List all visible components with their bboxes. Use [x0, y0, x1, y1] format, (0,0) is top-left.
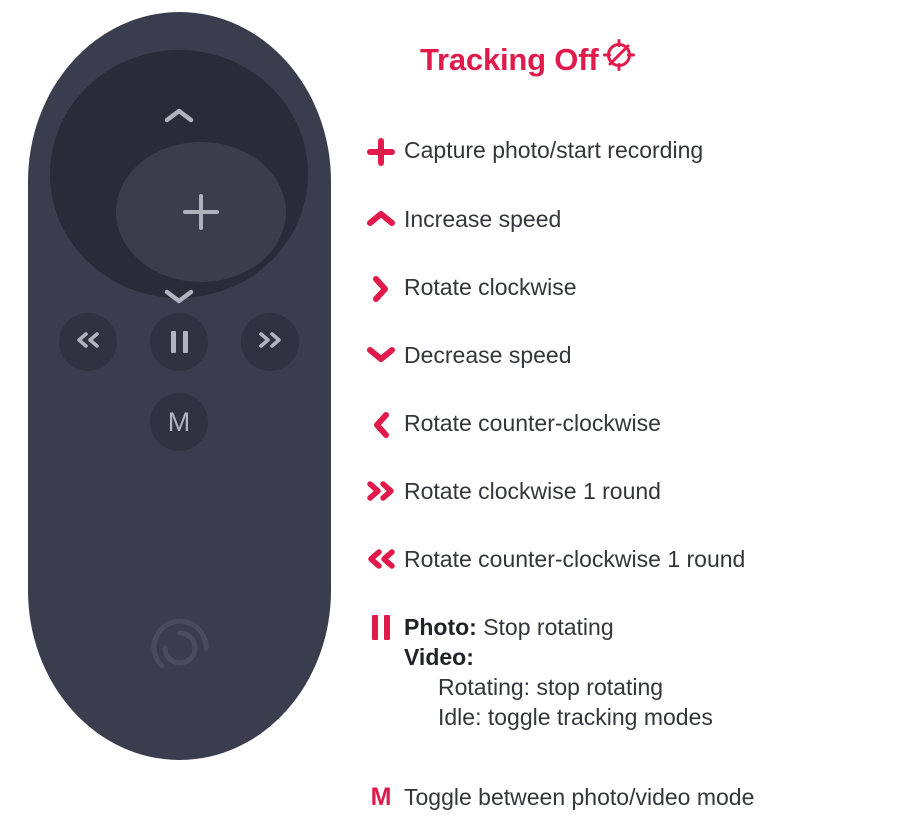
double-chevron-left-icon: [73, 330, 103, 355]
legend-item-capture: Capture photo/start recording: [358, 136, 703, 166]
legend-item-label: Photo: Stop rotating Video: Rotating: st…: [404, 613, 713, 733]
legend-item-label: Rotate counter-clockwise 1 round: [404, 545, 745, 575]
dpad-center-button[interactable]: [116, 142, 286, 282]
mode-button[interactable]: M: [150, 393, 208, 451]
remote-button-guide: M Tracking Off: [0, 0, 902, 826]
legend-item-label: Rotate clockwise 1 round: [404, 477, 661, 507]
legend-item-decrease-speed: Decrease speed: [358, 341, 572, 371]
legend-item-counter-clockwise-one-round: Rotate counter-clockwise 1 round: [358, 545, 745, 575]
legend-panel: Tracking Off Capture photo/start recordi…: [358, 0, 898, 826]
chevron-left-icon: [358, 409, 404, 439]
plus-icon: [179, 190, 223, 234]
legend-item-label: Increase speed: [404, 205, 561, 235]
legend-item-label: Rotate clockwise: [404, 273, 577, 303]
photo-value: Stop rotating: [477, 614, 614, 640]
double-chevron-right-icon: [358, 477, 404, 503]
legend-item-rotate-clockwise: Rotate clockwise: [358, 273, 577, 303]
page-title-text: Tracking Off: [420, 42, 598, 78]
pause-icon: [171, 331, 188, 353]
chevron-up-icon[interactable]: [164, 106, 194, 124]
pause-button[interactable]: [150, 313, 208, 371]
video-label: Video:: [404, 644, 474, 670]
legend-item-label: Decrease speed: [404, 341, 572, 371]
letter-m-icon: M: [358, 783, 404, 810]
chevron-down-icon: [358, 341, 404, 365]
spiral-logo: [136, 604, 224, 692]
dpad-ring[interactable]: [50, 50, 308, 298]
chevron-down-icon[interactable]: [164, 288, 194, 306]
rewind-button[interactable]: [59, 313, 117, 371]
legend-item-clockwise-one-round: Rotate clockwise 1 round: [358, 477, 661, 507]
legend-item-label: Capture photo/start recording: [404, 136, 703, 166]
chevron-up-icon: [358, 205, 404, 229]
legend-item-label: Rotate counter-clockwise: [404, 409, 661, 439]
plus-icon: [358, 136, 404, 166]
letter-m-icon: M: [168, 407, 191, 438]
legend-item-label: Toggle between photo/video mode: [404, 783, 754, 813]
page-title: Tracking Off: [420, 36, 638, 84]
legend-item-rotate-counter-clockwise: Rotate counter-clockwise: [358, 409, 661, 439]
fast-forward-button[interactable]: [241, 313, 299, 371]
double-chevron-right-icon: [255, 330, 285, 355]
video-line-rotating: Rotating: stop rotating: [404, 673, 713, 703]
legend-item-increase-speed: Increase speed: [358, 205, 561, 235]
video-line-idle: Idle: toggle tracking modes: [404, 703, 713, 733]
legend-item-pause: Photo: Stop rotating Video: Rotating: st…: [358, 613, 713, 733]
tracking-off-icon: [600, 36, 638, 82]
photo-label: Photo:: [404, 614, 477, 640]
chevron-right-icon: [358, 273, 404, 303]
double-chevron-left-icon: [358, 545, 404, 571]
remote-control: M: [28, 12, 331, 760]
legend-item-mode-toggle: M Toggle between photo/video mode: [358, 783, 754, 813]
pause-icon: [358, 613, 404, 640]
